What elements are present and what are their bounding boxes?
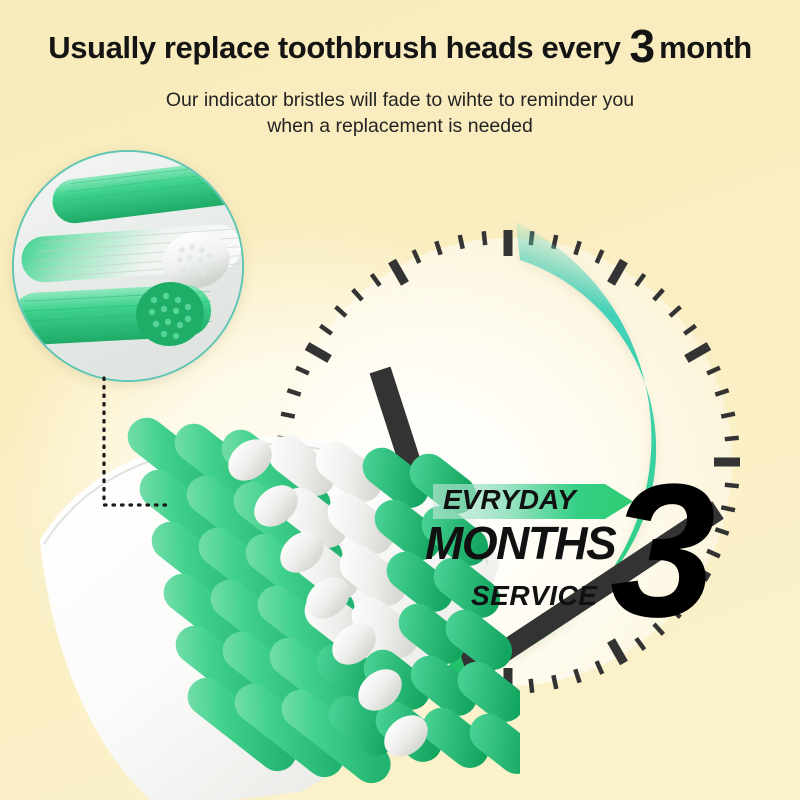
evryday-label: EVRYDAY: [443, 486, 633, 514]
headline-number: 3: [621, 20, 660, 72]
bristle-closeup-photo: [14, 152, 242, 380]
headline-lead: Usually replace toothbrush heads every: [48, 30, 620, 65]
bristle-closeup-inset: [12, 150, 244, 382]
product-poster: Usually replace toothbrush heads every3m…: [0, 0, 800, 800]
months-label: MONTHS: [425, 520, 615, 566]
badge-number: 3: [610, 456, 710, 646]
service-label: SERVICE: [471, 582, 597, 610]
subtitle-line-2: when a replacement is needed: [0, 114, 800, 140]
subtitle: Our indicator bristles will fade to wiht…: [0, 88, 800, 139]
service-badge: EVRYDAY 3 MONTHS SERVICE: [425, 478, 755, 648]
subtitle-line-1: Our indicator bristles will fade to wiht…: [0, 88, 800, 114]
headline: Usually replace toothbrush heads every3m…: [0, 28, 800, 65]
headline-trail: month: [659, 30, 752, 65]
